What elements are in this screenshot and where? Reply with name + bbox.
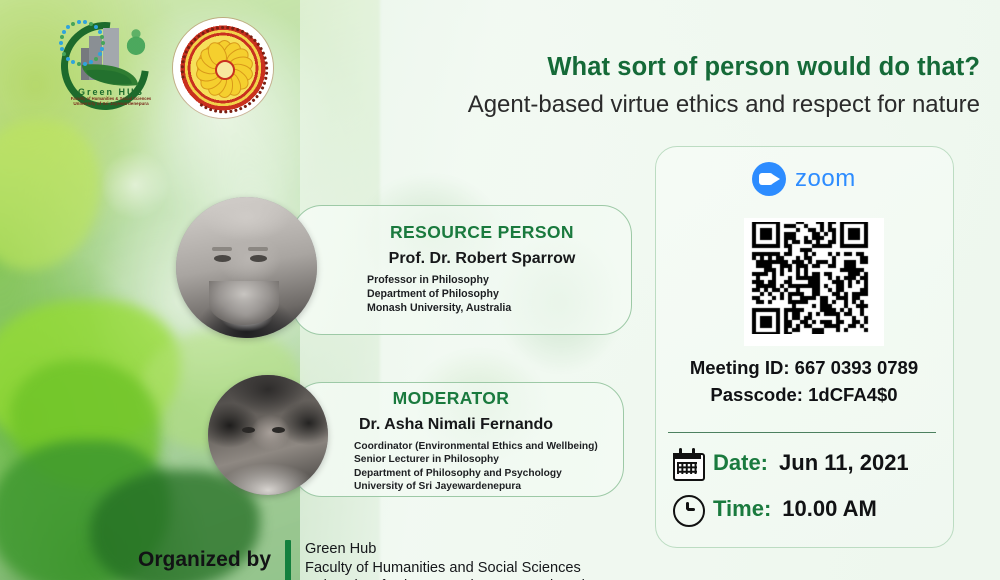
university-of-sri-jayewardenepura-seal <box>173 18 273 118</box>
resource-person-details: RESOURCE PERSON Prof. Dr. Robert Sparrow… <box>337 222 627 316</box>
clock-icon <box>672 494 702 524</box>
lotus-core-icon <box>215 60 235 80</box>
clock-hand-minute <box>687 508 695 511</box>
meeting-details-panel <box>655 146 954 548</box>
green-hub-caption: Green HUB Faculty of Humanities & Social… <box>53 88 169 107</box>
portrait-detail <box>248 247 268 251</box>
zoom-wordmark: zoom <box>795 165 856 193</box>
moderator-name: Dr. Asha Nimali Fernando <box>340 416 620 434</box>
affiliation-line: Coordinator (Environmental Ethics and We… <box>354 440 620 453</box>
moderator-affiliation: Coordinator (Environmental Ethics and We… <box>340 440 620 494</box>
zoom-logo: zoom <box>752 162 856 196</box>
time-label: Time: <box>713 496 771 522</box>
date-label: Date: <box>713 450 768 476</box>
moderator-role: MODERATOR <box>340 388 620 409</box>
affiliation-line: Monash University, Australia <box>367 302 627 316</box>
date-value: Jun 11, 2021 <box>779 450 909 476</box>
affiliation-line: Professor in Philosophy <box>367 274 627 288</box>
green-hub-logo: Green HUB Faculty of Humanities & Social… <box>57 18 165 118</box>
affiliation-line: University of Sri Jayewardenepura <box>354 480 620 493</box>
moderator-details: MODERATOR Dr. Asha Nimali Fernando Coord… <box>340 388 620 494</box>
organized-by-label: Organized by <box>138 540 271 572</box>
meeting-passcode: Passcode: 1dCFA4$0 <box>668 382 940 409</box>
affiliation-line: Department of Philosophy <box>367 288 627 302</box>
divider <box>668 432 936 433</box>
affiliation-line: Senior Lecturer in Philosophy <box>354 453 620 466</box>
portrait-detail <box>209 281 279 325</box>
page-title: What sort of person would do that? <box>330 52 980 83</box>
resource-person-affiliation: Professor in Philosophy Department of Ph… <box>337 274 627 316</box>
event-date-row: Date: Jun 11, 2021 <box>672 448 909 478</box>
clock-face <box>673 495 705 527</box>
organizer-names: Green Hub Faculty of Humanities and Soci… <box>305 540 597 580</box>
organizer-line: Green Hub <box>305 540 597 559</box>
organizer-accent-bar <box>285 540 291 580</box>
calendar-icon <box>672 448 702 478</box>
event-flyer: Green HUB Faculty of Humanities & Social… <box>0 0 1000 580</box>
affiliation-line: Department of Philosophy and Psychology <box>354 467 620 480</box>
time-value: 10.00 AM <box>782 496 877 522</box>
calendar-grid <box>677 462 697 474</box>
calendar-header <box>673 453 701 459</box>
portrait-detail <box>242 427 255 433</box>
meeting-id: Meeting ID: 667 0393 0789 <box>668 355 940 382</box>
resource-person-name: Prof. Dr. Robert Sparrow <box>337 250 627 268</box>
portrait-detail <box>250 255 267 262</box>
camera-body-icon <box>759 173 773 185</box>
zoom-meeting-qr-code[interactable] <box>744 218 884 346</box>
portrait-detail <box>214 255 231 262</box>
green-hub-university: University of Sri Jayewardenepura <box>53 102 169 107</box>
event-time-row: Time: 10.00 AM <box>672 494 877 524</box>
portrait-detail <box>212 247 232 251</box>
portrait-detail <box>272 427 285 433</box>
avatar <box>176 197 317 338</box>
headline-block: What sort of person would do that? Agent… <box>330 52 980 120</box>
avatar <box>208 375 328 495</box>
robert-sparrow-portrait <box>176 197 317 338</box>
camera-lens-icon <box>772 174 780 184</box>
organizer-line: Faculty of Humanities and Social Science… <box>305 559 597 578</box>
footprint-icon <box>113 20 159 66</box>
resource-person-role: RESOURCE PERSON <box>337 222 627 243</box>
page-subtitle: Agent-based virtue ethics and respect fo… <box>330 90 980 120</box>
organizer-block: Organized by Green Hub Faculty of Humani… <box>138 540 597 580</box>
meeting-credentials: Meeting ID: 667 0393 0789 Passcode: 1dCF… <box>668 355 940 409</box>
background-bokeh <box>100 150 170 220</box>
zoom-video-camera-icon <box>752 162 786 196</box>
asha-nimali-fernando-portrait <box>208 375 328 495</box>
